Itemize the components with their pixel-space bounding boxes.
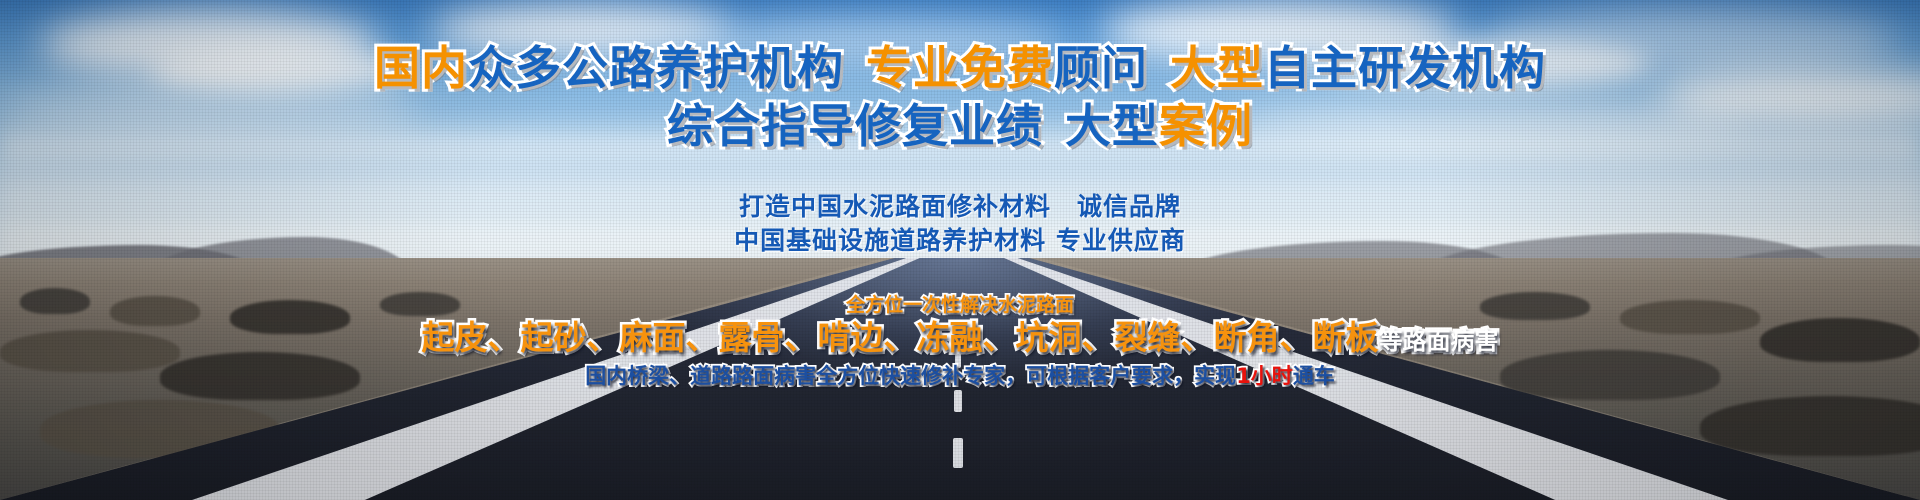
headline-line-1: 国内众多公路养护机构专业免费顾问大型自主研发机构 bbox=[0, 42, 1920, 94]
banner-text-content: 国内众多公路养护机构专业免费顾问大型自主研发机构 综合指导修复业绩大型案例 打造… bbox=[0, 0, 1920, 500]
headline-segment: 自主研发机构 bbox=[1264, 42, 1546, 94]
bottom-defects-line: 起皮、起砂、麻面、露骨、啃边、冻融、坑洞、裂缝、断角、断板等路面病害 bbox=[0, 318, 1920, 361]
subheading-line-1: 打造中国水泥路面修补材料 诚信品牌 bbox=[0, 190, 1920, 224]
subheading-line-2: 中国基础设施道路养护材料 专业供应商 bbox=[0, 224, 1920, 258]
bottom-lead-text: 全方位一次性解决水泥路面 bbox=[846, 293, 1074, 317]
headline-segment: 大型 bbox=[1065, 100, 1159, 152]
bottom-claim-line: 国内桥梁、道路路面病害全方位快速修补专家，可根据客户要求，实现1小时通车 bbox=[0, 362, 1920, 390]
headline-segment: 案例 bbox=[1159, 100, 1253, 152]
bottom-lead-line: 全方位一次性解决水泥路面 bbox=[0, 293, 1920, 317]
claim-text-start: 国内桥梁、道路路面病害全方位快速修补专家，可根据客户要求，实现 bbox=[585, 362, 1236, 390]
defect-list-suffix: 等路面病害 bbox=[1379, 321, 1499, 361]
headline-segment: 免费 bbox=[960, 42, 1054, 94]
claim-text-end: 通车 bbox=[1293, 362, 1335, 390]
claim-highlight: 1小时 bbox=[1236, 362, 1293, 390]
headline-segment: 众多公路养护机构 bbox=[468, 42, 844, 94]
defect-list-text: 起皮、起砂、麻面、露骨、啃边、冻融、坑洞、裂缝、断角、断板 bbox=[422, 318, 1379, 358]
headline-segment: 专业 bbox=[866, 42, 960, 94]
promotional-banner: 国内众多公路养护机构专业免费顾问大型自主研发机构 综合指导修复业绩大型案例 打造… bbox=[0, 0, 1920, 500]
headline-line-2: 综合指导修复业绩大型案例 bbox=[0, 100, 1920, 152]
headline-segment: 综合指导修复业绩 bbox=[667, 100, 1043, 152]
headline-segment: 大型 bbox=[1170, 42, 1264, 94]
headline-segment: 顾问 bbox=[1054, 42, 1148, 94]
headline-segment: 国内 bbox=[374, 42, 468, 94]
